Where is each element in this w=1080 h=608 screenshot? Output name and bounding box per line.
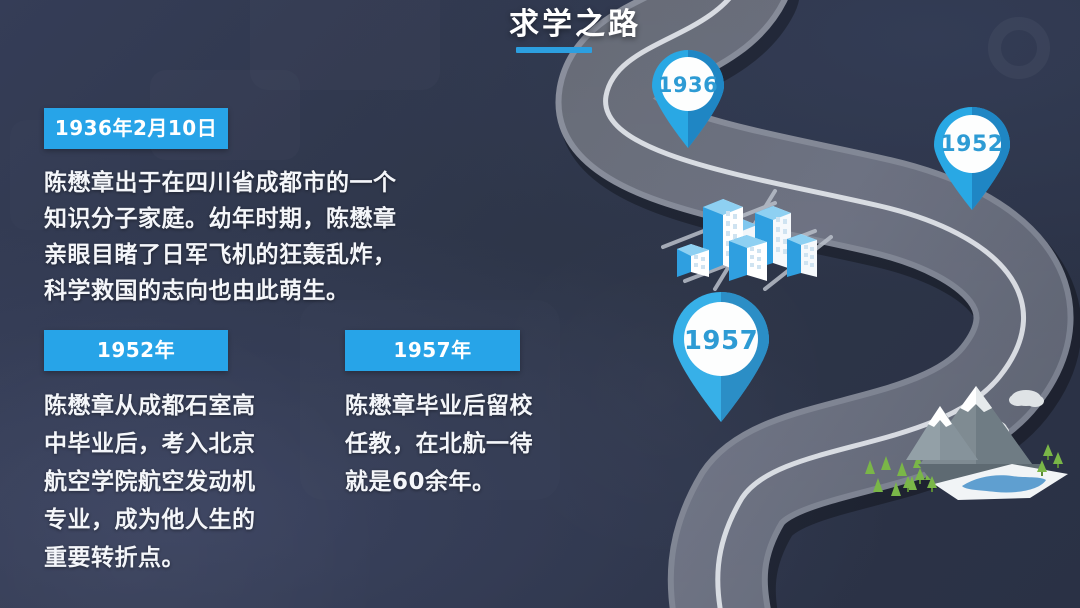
mountain-lake-icon — [900, 372, 1072, 504]
milestone-block-1936: 1936年2月10日 陈懋章出于在四川省成都市的一个 知识分子家庭。幼年时期，陈… — [44, 108, 397, 309]
city-buildings-icon — [655, 185, 845, 291]
title-underline — [516, 47, 592, 53]
text-line: 中毕业后，考入北京 — [44, 425, 256, 463]
page-title: 求学之路 — [470, 6, 680, 44]
paragraph-1952: 陈懋章从成都石室高 中毕业后，考入北京 航空学院航空发动机 专业，成为他人生的 … — [44, 387, 256, 577]
map-pin-label: 1957 — [665, 326, 777, 356]
text-line: 知识分子家庭。幼年时期，陈懋章 — [44, 201, 397, 237]
map-pin-label: 1936 — [646, 73, 730, 97]
text-line: 陈懋章出于在四川省成都市的一个 — [44, 165, 397, 201]
milestone-block-1952: 1952年 陈懋章从成都石室高 中毕业后，考入北京 航空学院航空发动机 专业，成… — [44, 330, 256, 577]
date-badge-1952[interactable]: 1952年 — [44, 330, 228, 371]
text-line: 陈懋章从成都石室高 — [44, 387, 256, 425]
date-badge-1936[interactable]: 1936年2月10日 — [44, 108, 228, 149]
milestone-block-1957: 1957年 陈懋章毕业后留校 任教，在北航一待 就是60余年。 — [345, 330, 533, 501]
text-line: 陈懋章毕业后留校 — [345, 387, 533, 425]
text-line: 亲眼目睹了日军飞机的狂轰乱炸， — [44, 237, 397, 273]
text-line: 就是60余年。 — [345, 463, 533, 501]
text-line: 专业，成为他人生的 — [44, 501, 256, 539]
map-pin-1957[interactable]: 1957 — [665, 288, 777, 424]
page-title-text: 求学之路 — [470, 6, 680, 44]
text-line: 重要转折点。 — [44, 539, 256, 577]
paragraph-1957: 陈懋章毕业后留校 任教，在北航一待 就是60余年。 — [345, 387, 533, 501]
text-line: 科学救国的志向也由此萌生。 — [44, 273, 397, 309]
slide-canvas: 求学之路 1936年2月10日 陈懋章出于在四川省成都市的一个 知识分子家庭。幼… — [0, 0, 1080, 608]
date-badge-1957[interactable]: 1957年 — [345, 330, 520, 371]
paragraph-1936: 陈懋章出于在四川省成都市的一个 知识分子家庭。幼年时期，陈懋章 亲眼目睹了日军飞… — [44, 165, 397, 309]
map-pin-1952[interactable]: 1952 — [928, 104, 1016, 212]
text-line: 航空学院航空发动机 — [44, 463, 256, 501]
text-line: 任教，在北航一待 — [345, 425, 533, 463]
map-pin-1936[interactable]: 1936 — [646, 46, 730, 150]
map-pin-label: 1952 — [928, 132, 1016, 157]
